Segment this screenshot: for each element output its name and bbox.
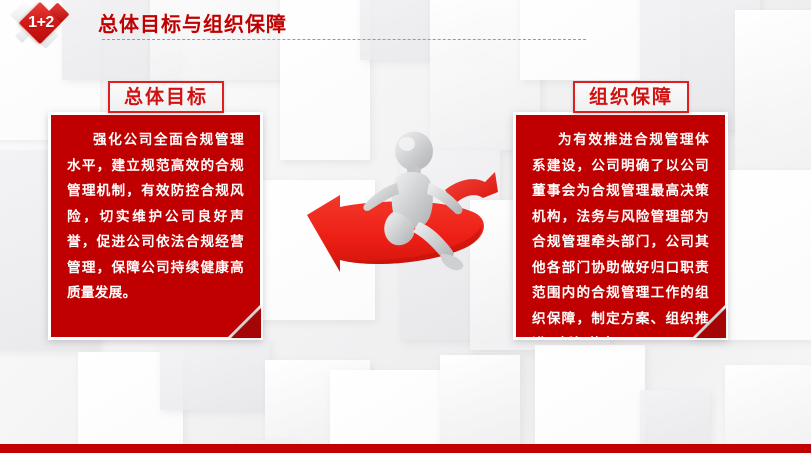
card-overall-goal-body: 强化公司全面合规管理水平，建立规范高效的合规管理机制，有效防控合规风险，切实维护… <box>67 127 244 306</box>
page-fold-flap-right <box>696 308 726 338</box>
card-organizational-guarantee-label: 组织保障 <box>573 81 689 113</box>
header-divider <box>102 39 586 40</box>
page-fold-flap-left <box>231 308 261 338</box>
slide: 1+2 总体目标与组织保障 强化公司全面合规管理水平，建立规范高效的合规管理机制… <box>0 0 811 453</box>
figure-foot <box>441 254 463 270</box>
bg-block-23 <box>725 365 811 453</box>
logo-label: 1+2 <box>19 14 63 32</box>
card-overall-goal: 强化公司全面合规管理水平，建立规范高效的合规管理机制，有效防控合规风险，切实维护… <box>48 112 263 340</box>
page-fold-corner-left <box>227 304 261 338</box>
bg-block-20 <box>440 355 520 453</box>
page-fold-corner-right <box>692 304 726 338</box>
figure-head <box>395 132 433 171</box>
card-organizational-guarantee: 为有效推进合规管理体系建设，公司明确了以公司董事会为合规管理最高决策机构，法务与… <box>513 112 728 340</box>
page-title: 总体目标与组织保障 <box>98 8 287 37</box>
bg-block-21 <box>535 345 645 453</box>
bg-block-16 <box>160 340 270 410</box>
footer-accent-bar <box>0 444 811 453</box>
logo-diamond-cluster: 1+2 <box>8 1 86 53</box>
bg-block-18 <box>330 370 440 453</box>
card-overall-goal-label: 总体目标 <box>108 81 224 113</box>
slide-header: 1+2 总体目标与组织保障 <box>0 0 811 56</box>
card-organizational-guarantee-body: 为有效推进合规管理体系建设，公司明确了以公司董事会为合规管理最高决策机构，法务与… <box>532 127 709 337</box>
figure-head-highlight <box>399 137 415 151</box>
illustration-person-on-arrow <box>295 120 520 295</box>
